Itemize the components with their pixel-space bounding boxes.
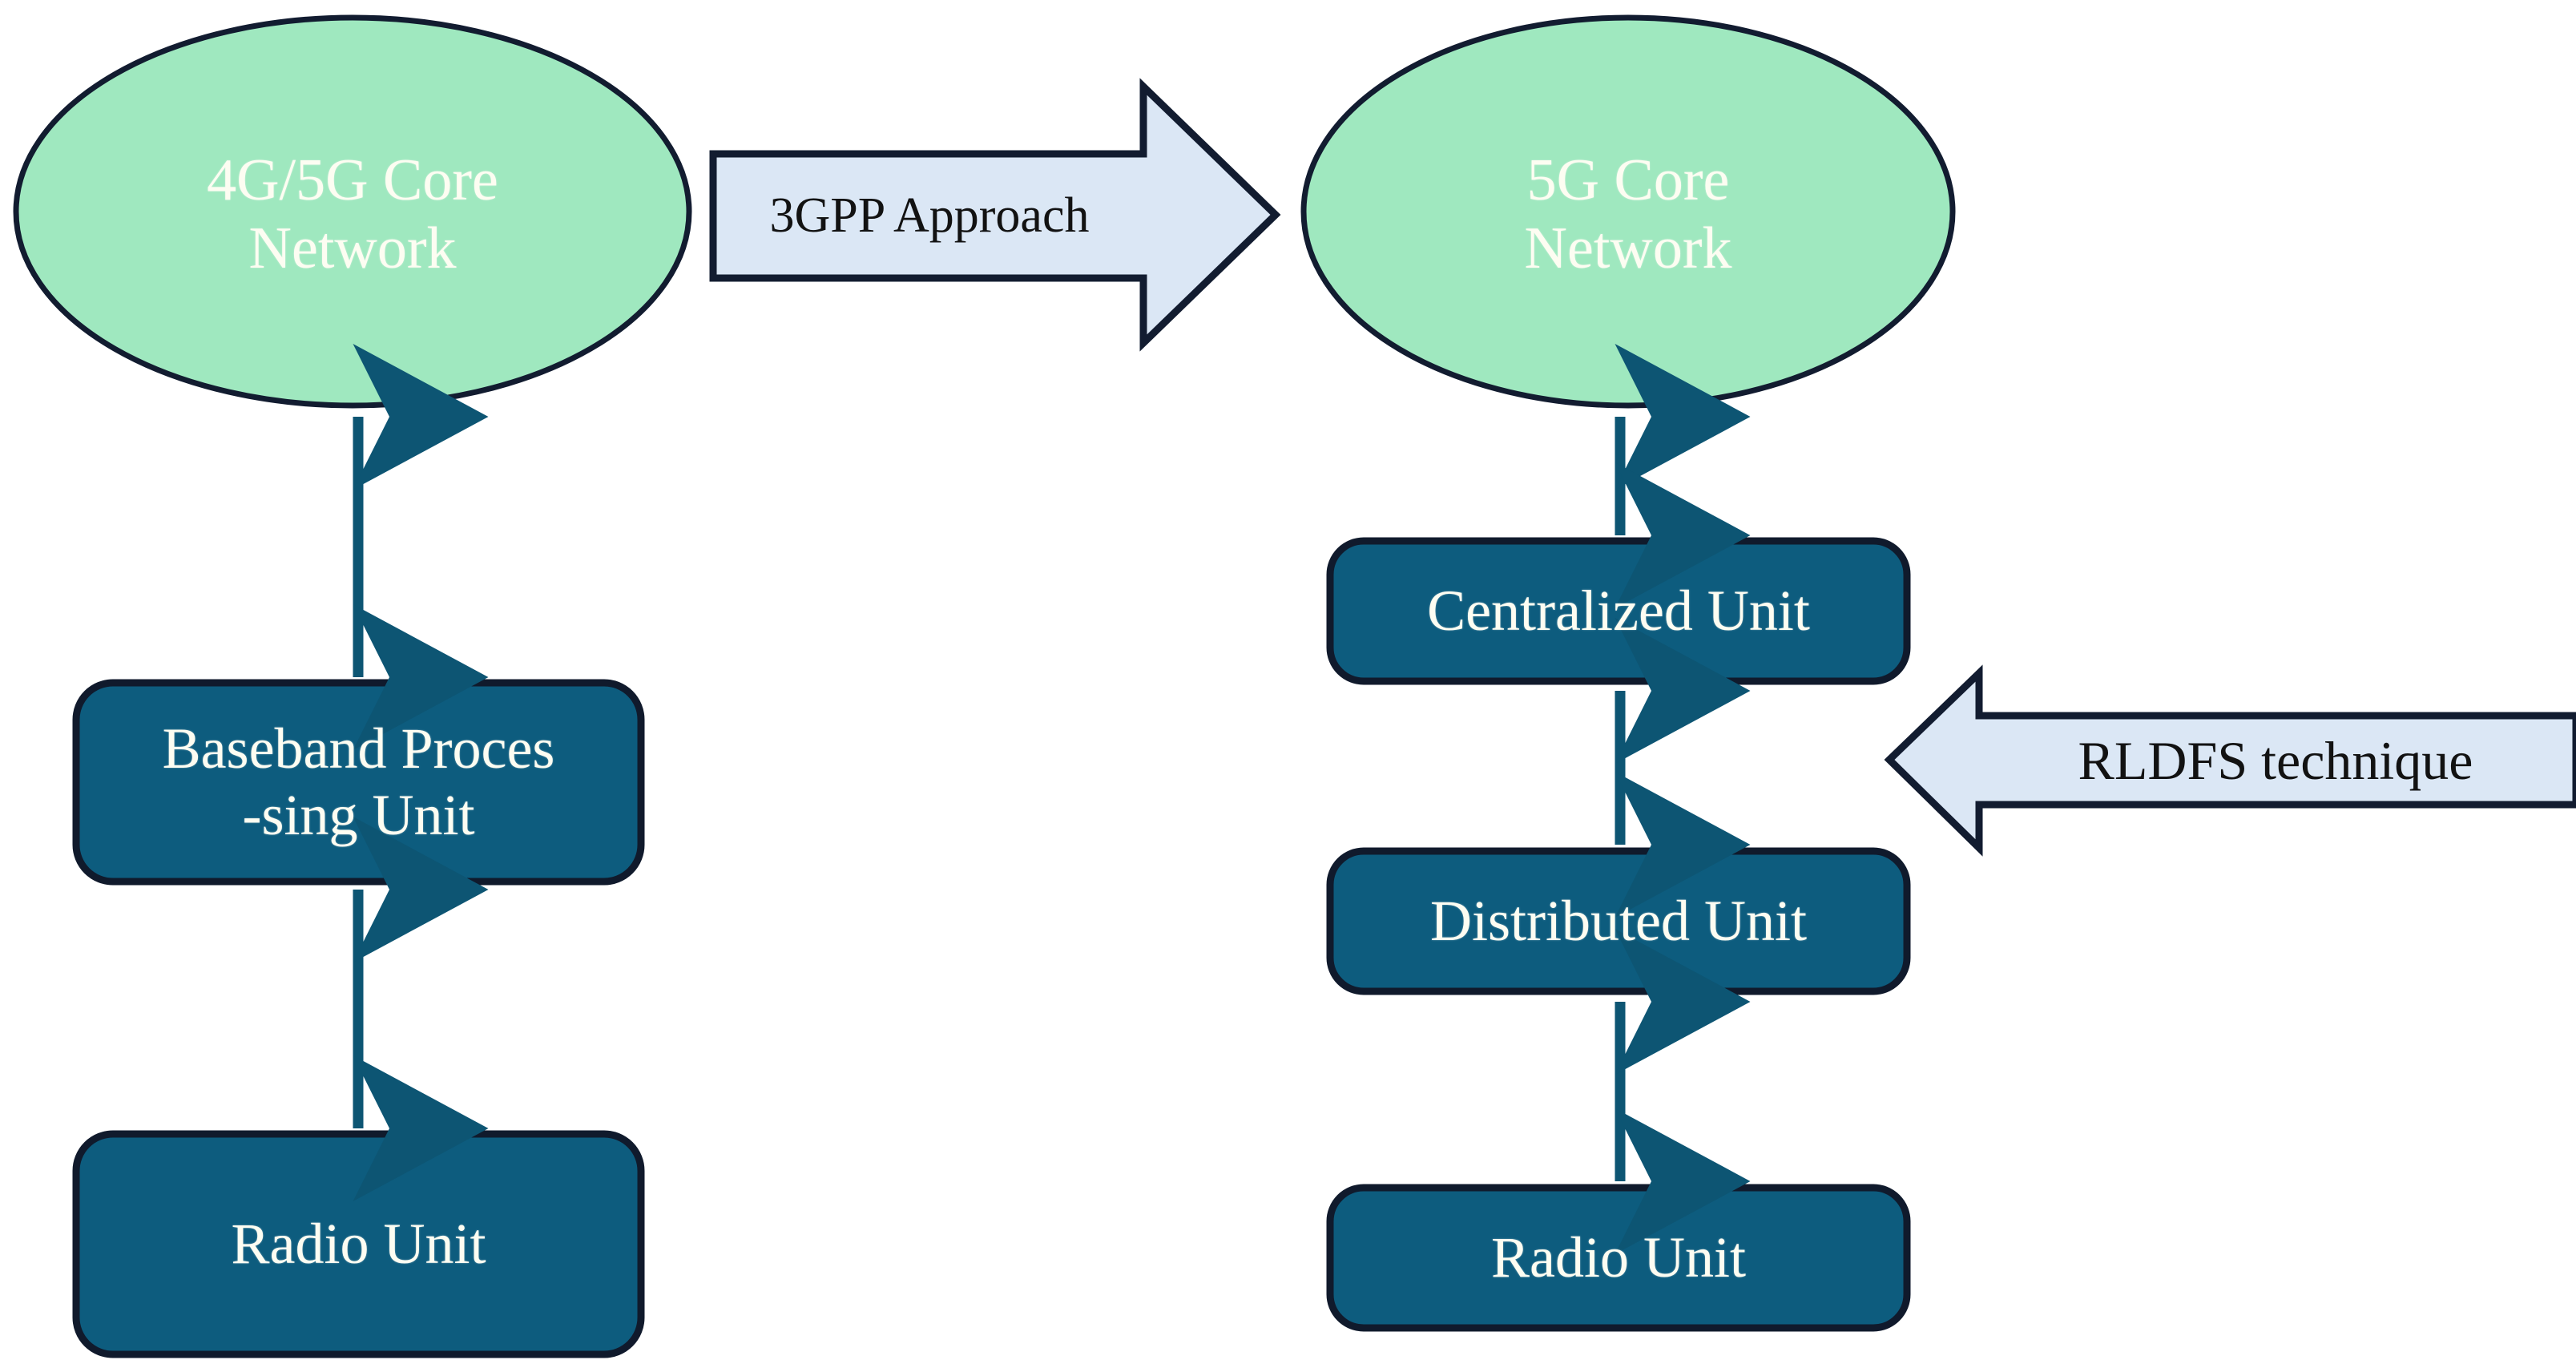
block-arrow-rldfs-technique[interactable]: [1889, 673, 2576, 848]
node-distributed-unit[interactable]: [1330, 851, 1907, 991]
block-arrow-3gpp-approach[interactable]: [713, 87, 1276, 343]
node-5g-core-network[interactable]: [1304, 18, 1953, 406]
node-centralized-unit[interactable]: [1330, 541, 1907, 681]
diagram-vector-layer: [0, 0, 2576, 1364]
diagram-canvas: 4G/5G Core Network 5G Core Network Baseb…: [0, 0, 2576, 1364]
node-radio-unit-right[interactable]: [1330, 1188, 1907, 1328]
node-radio-unit-left[interactable]: [76, 1134, 641, 1354]
node-4g5g-core-network[interactable]: [16, 18, 689, 406]
node-baseband-processing-unit[interactable]: [76, 683, 641, 882]
